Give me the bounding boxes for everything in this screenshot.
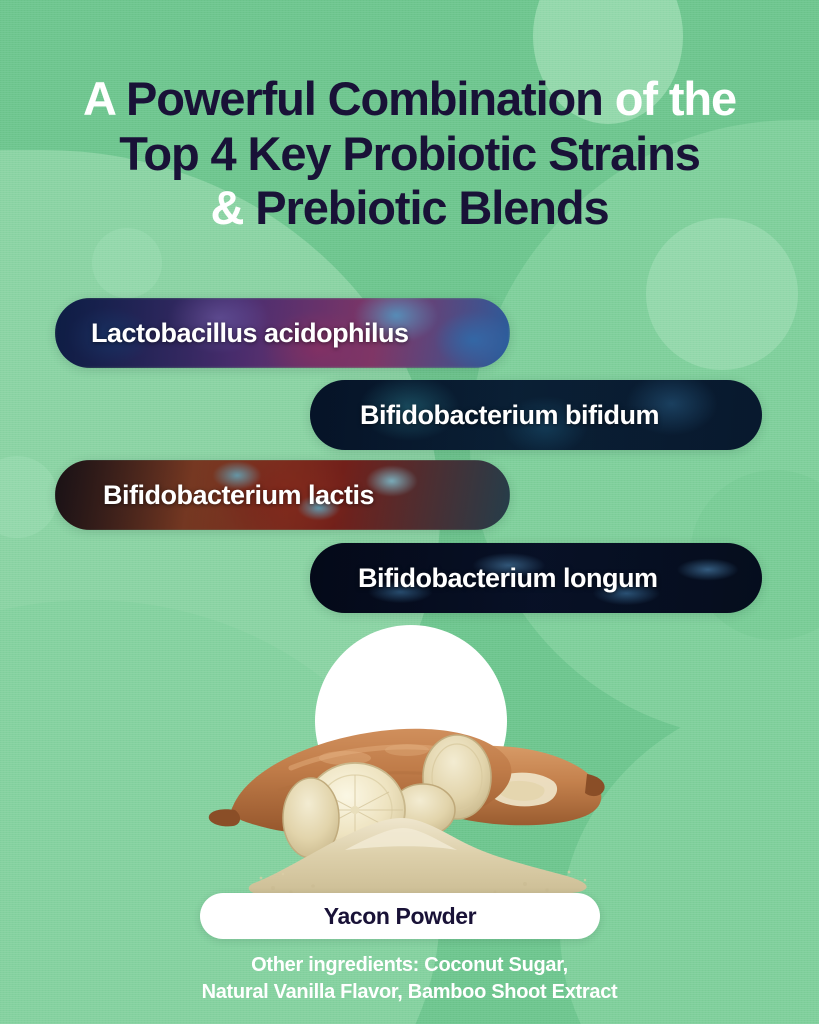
page-title: A Powerful Combination of the Top 4 Key … (0, 72, 819, 236)
headline-ampersand: & (210, 181, 243, 234)
probiotic-infographic-poster: A Powerful Combination of the Top 4 Key … (0, 0, 819, 1024)
strain-pill-bifidobacterium-longum: Bifidobacterium longum (310, 543, 762, 613)
headline-line-2: Top 4 Key Probiotic Strains (0, 127, 819, 182)
strain-name-label: Bifidobacterium longum (358, 563, 658, 594)
headline-word-a: A (83, 72, 114, 125)
headline-line-3: & Prebiotic Blends (0, 181, 819, 236)
strain-name-label: Bifidobacterium bifidum (360, 400, 659, 431)
other-ingredients-line-1: Other ingredients: Coconut Sugar, (0, 952, 819, 979)
headline-phrase-powerful-combination: Powerful Combination (126, 72, 603, 125)
yacon-root-image (195, 650, 625, 900)
other-ingredients-line-2: Natural Vanilla Flavor, Bamboo Shoot Ext… (0, 979, 819, 1006)
yacon-powder-text: Yacon Powder (324, 903, 476, 930)
headline-phrase-of-the: of the (615, 72, 736, 125)
strain-pill-lactobacillus-acidophilus: Lactobacillus acidophilus (55, 298, 510, 368)
yacon-powder-label: Yacon Powder (200, 893, 600, 939)
strain-name-label: Bifidobacterium lactis (103, 480, 374, 511)
headline-phrase-prebiotic-blends: Prebiotic Blends (255, 181, 608, 234)
strain-pill-bifidobacterium-lactis: Bifidobacterium lactis (55, 460, 510, 530)
headline-line-1: A Powerful Combination of the (0, 72, 819, 127)
headline-phrase-top-4-key-probiotic-strains: Top 4 Key Probiotic Strains (119, 127, 700, 180)
other-ingredients-text: Other ingredients: Coconut Sugar, Natura… (0, 952, 819, 1006)
strain-name-label: Lactobacillus acidophilus (91, 318, 409, 349)
strain-pill-bifidobacterium-bifidum: Bifidobacterium bifidum (310, 380, 762, 450)
